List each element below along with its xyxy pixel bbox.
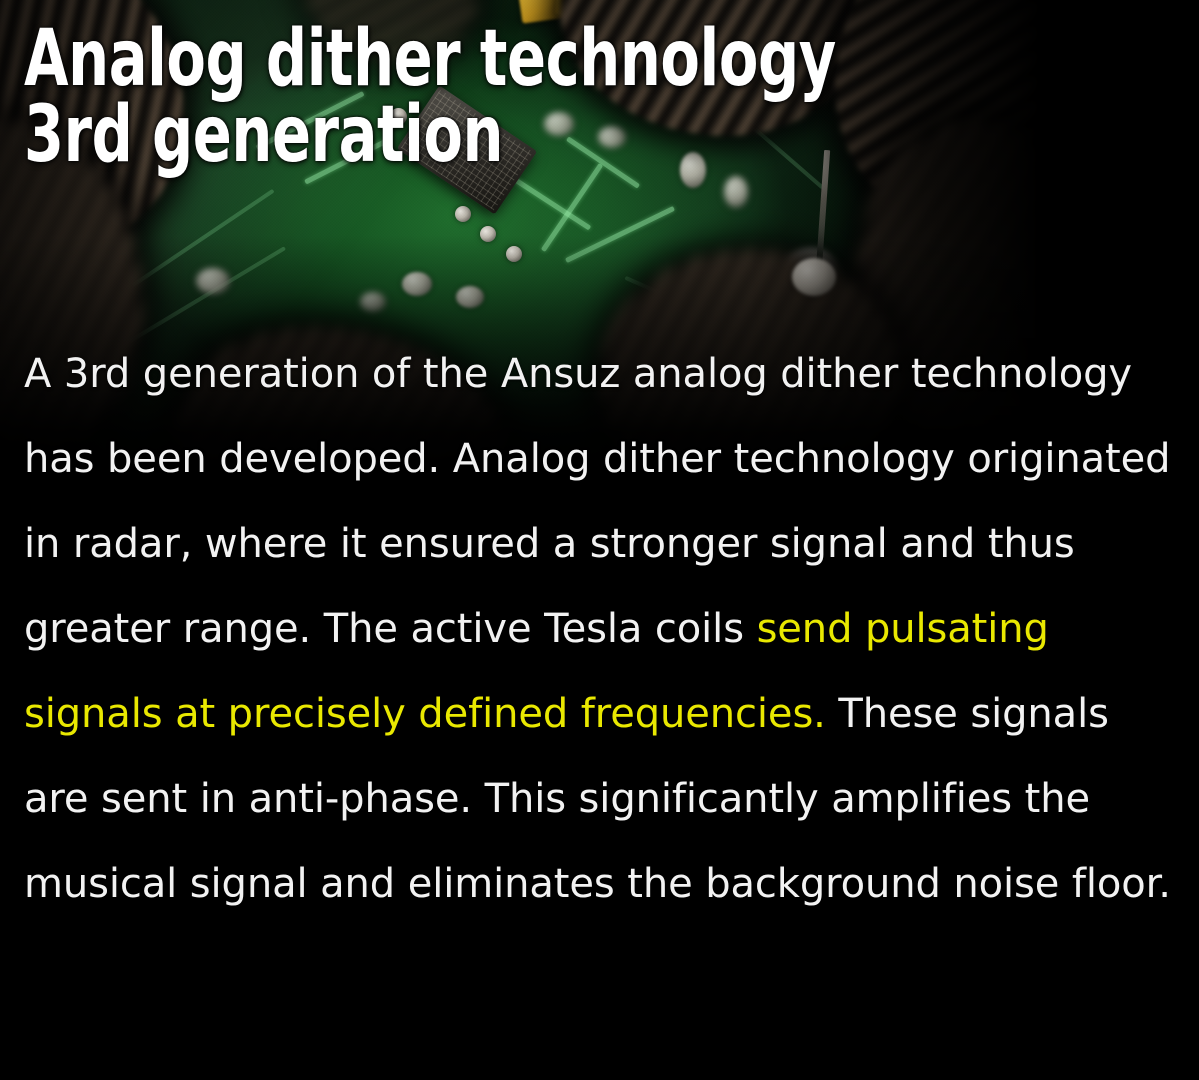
article-body: A 3rd generation of the Ansuz analog dit…: [24, 332, 1184, 927]
article-headline: Analog dither technology 3rd generation: [24, 22, 942, 173]
article-page: Analog dither technology 3rd generation …: [0, 0, 1199, 1080]
